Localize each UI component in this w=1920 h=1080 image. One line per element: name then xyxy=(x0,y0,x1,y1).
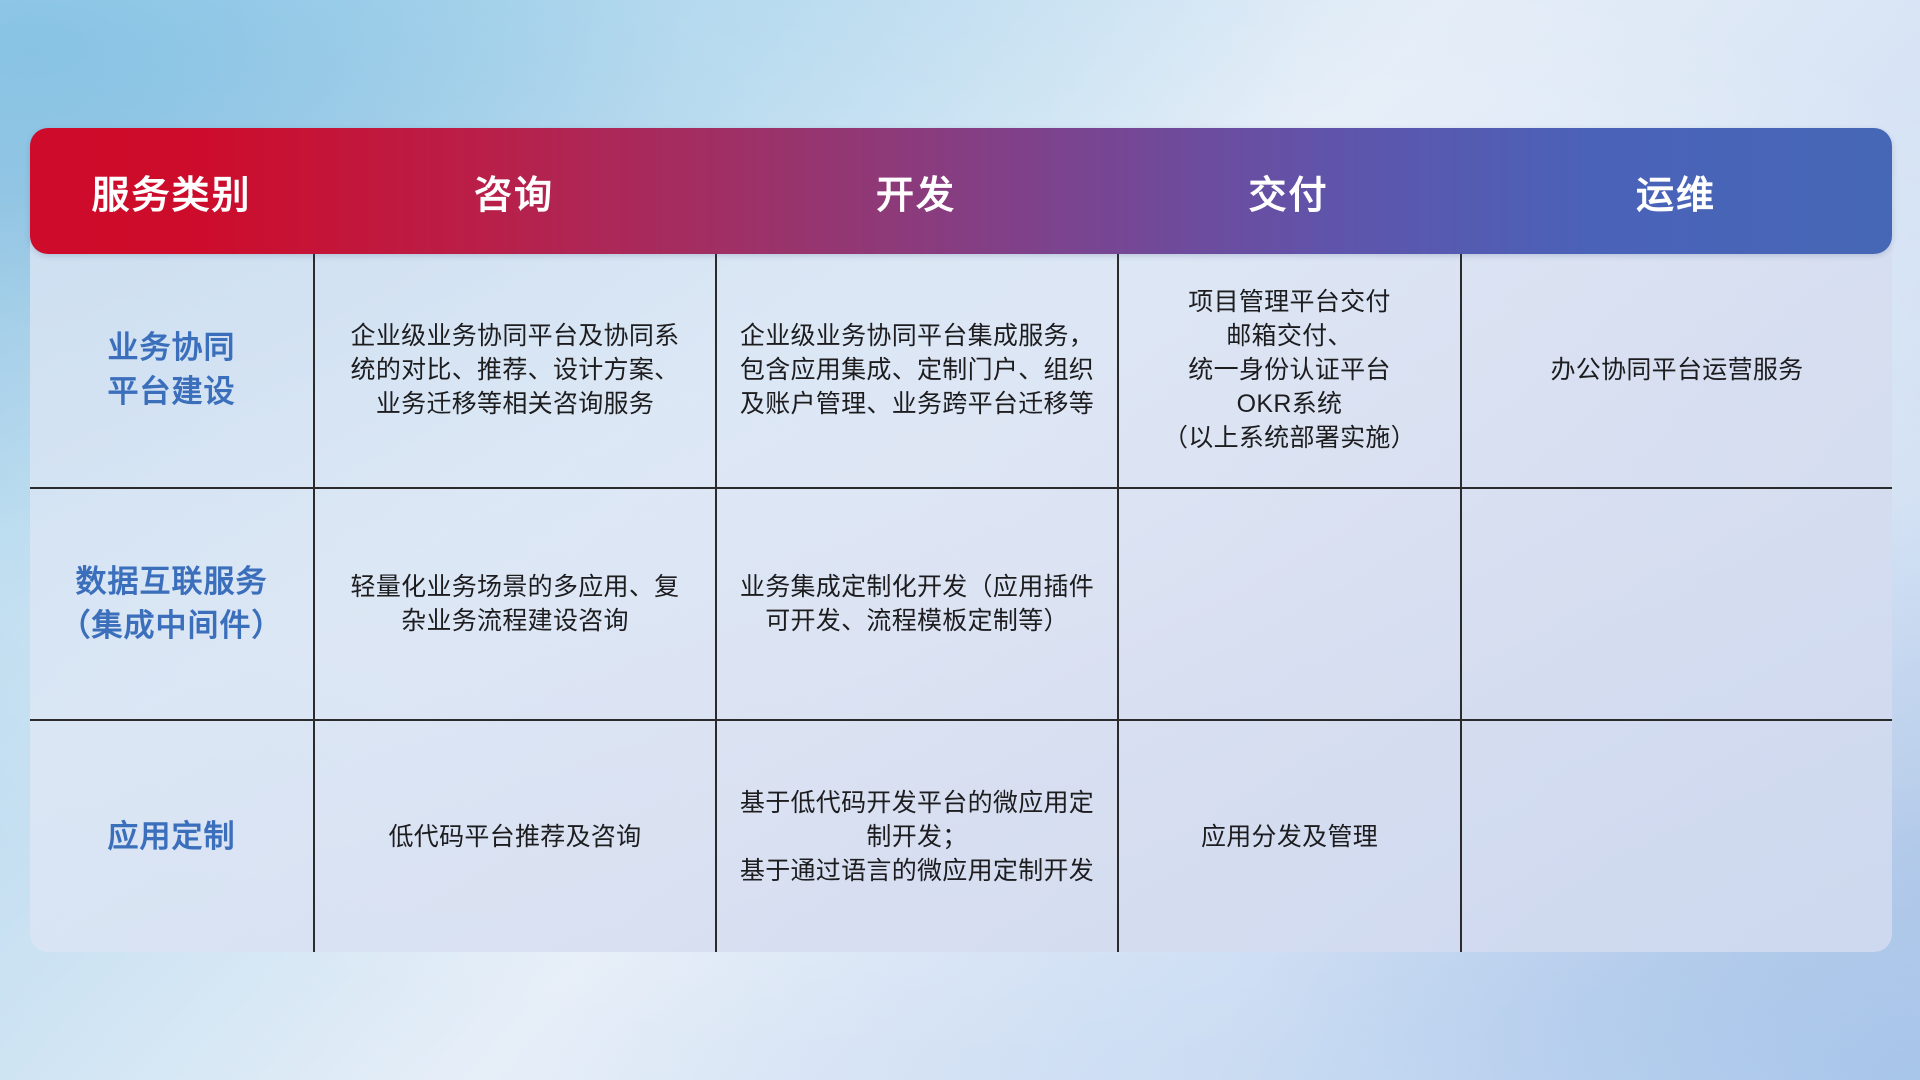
table-cell-operations xyxy=(1460,719,1892,952)
table-grid: 业务协同 平台建设 企业级业务协同平台及协同系 统的对比、推荐、设计方案、 业务… xyxy=(30,254,1892,952)
table-body-panel: 业务协同 平台建设 企业级业务协同平台及协同系 统的对比、推荐、设计方案、 业务… xyxy=(30,238,1892,952)
service-category-table: 业务协同 平台建设 企业级业务协同平台及协同系 统的对比、推荐、设计方案、 业务… xyxy=(30,128,1892,952)
table-cell-delivery: 应用分发及管理 xyxy=(1117,719,1460,952)
column-header-service-category: 服务类别 xyxy=(30,164,313,219)
column-header-consulting: 咨询 xyxy=(313,164,715,219)
table-cell-consulting: 低代码平台推荐及咨询 xyxy=(313,719,715,952)
table-cell-delivery: 项目管理平台交付 邮箱交付、 统一身份认证平台 OKR系统 （以上系统部署实施） xyxy=(1117,254,1460,487)
column-header-operations: 运维 xyxy=(1460,164,1892,219)
table-cell-development: 企业级业务协同平台集成服务， 包含应用集成、定制门户、组织 及账户管理、业务跨平… xyxy=(715,254,1117,487)
table-cell-category: 数据互联服务 （集成中间件） xyxy=(30,487,313,720)
table-cell-development: 业务集成定制化开发（应用插件 可开发、流程模板定制等） xyxy=(715,487,1117,720)
column-header-delivery: 交付 xyxy=(1117,164,1460,219)
table-cell-category: 业务协同 平台建设 xyxy=(30,254,313,487)
table-header-row: 服务类别 咨询 开发 交付 运维 xyxy=(30,128,1892,254)
table-cell-development: 基于低代码开发平台的微应用定 制开发； 基于通过语言的微应用定制开发 xyxy=(715,719,1117,952)
table-cell-category: 应用定制 xyxy=(30,719,313,952)
table-cell-consulting: 企业级业务协同平台及协同系 统的对比、推荐、设计方案、 业务迁移等相关咨询服务 xyxy=(313,254,715,487)
column-header-development: 开发 xyxy=(715,164,1117,219)
table-cell-operations: 办公协同平台运营服务 xyxy=(1460,254,1892,487)
table-cell-operations xyxy=(1460,487,1892,720)
table-cell-consulting: 轻量化业务场景的多应用、复 杂业务流程建设咨询 xyxy=(313,487,715,720)
table-cell-delivery xyxy=(1117,487,1460,720)
